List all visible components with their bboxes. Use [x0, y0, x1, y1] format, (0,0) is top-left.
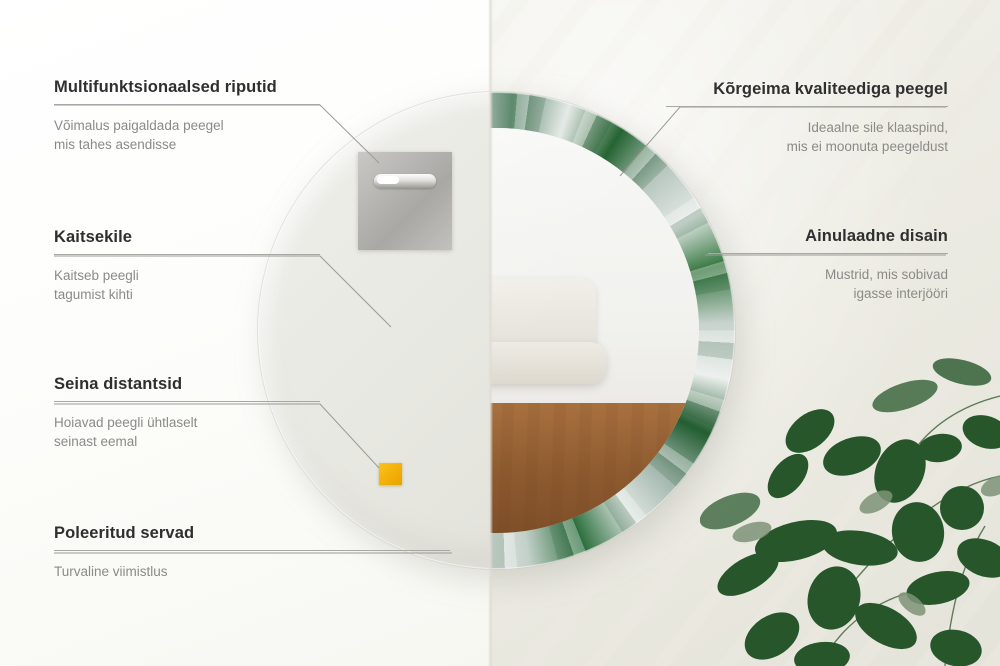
- product-infographic: Multifunktsionaalsed riputid Võimalus pa…: [0, 0, 1000, 666]
- callout-highest-quality-mirror: Kõrgeima kvaliteediga peegel Ideaalne si…: [666, 80, 948, 156]
- callout-title: Kaitsekile: [54, 228, 320, 247]
- callout-polished-edges: Poleeritud servad Turvaline viimistlus: [54, 524, 450, 581]
- callout-description: Kaitseb peegli tagumist kihti: [54, 266, 320, 304]
- callout-multifunctional-hangers: Multifunktsionaalsed riputid Võimalus pa…: [54, 78, 320, 154]
- callout-title: Kõrgeima kvaliteediga peegel: [666, 80, 948, 99]
- callout-rule: [54, 401, 320, 402]
- callout-protective-film: Kaitsekile Kaitseb peegli tagumist kihti: [54, 228, 320, 304]
- callout-description: Võimalus paigaldada peegel mis tahes ase…: [54, 116, 320, 154]
- callout-title: Seina distantsid: [54, 375, 320, 394]
- callout-title: Poleeritud servad: [54, 524, 450, 543]
- hanger-clip-icon: [374, 174, 436, 188]
- callout-rule: [54, 254, 320, 255]
- callout-wall-spacers: Seina distantsid Hoiavad peegli ühtlasel…: [54, 375, 320, 451]
- callout-description: Hoiavad peegli ühtlaselt seinast eemal: [54, 413, 320, 451]
- callout-rule: [54, 550, 450, 551]
- callout-description: Ideaalne sile klaaspind, mis ei moonuta …: [666, 118, 948, 156]
- hanger-plate: [358, 152, 452, 250]
- mirror: [258, 92, 735, 569]
- callout-title: Multifunktsionaalsed riputid: [54, 78, 320, 97]
- panel-divider: [488, 0, 493, 666]
- callout-description: Turvaline viimistlus: [54, 562, 450, 581]
- callout-unique-design: Ainulaadne disain Mustrid, mis sobivad i…: [708, 227, 948, 303]
- wall-spacer-block: [379, 463, 402, 485]
- callout-rule: [666, 106, 948, 107]
- foliage-decoration: [700, 336, 1000, 666]
- callout-rule: [708, 253, 948, 254]
- callout-rule: [54, 104, 320, 105]
- callout-title: Ainulaadne disain: [708, 227, 948, 246]
- callout-description: Mustrid, mis sobivad igasse interjööri: [708, 265, 948, 303]
